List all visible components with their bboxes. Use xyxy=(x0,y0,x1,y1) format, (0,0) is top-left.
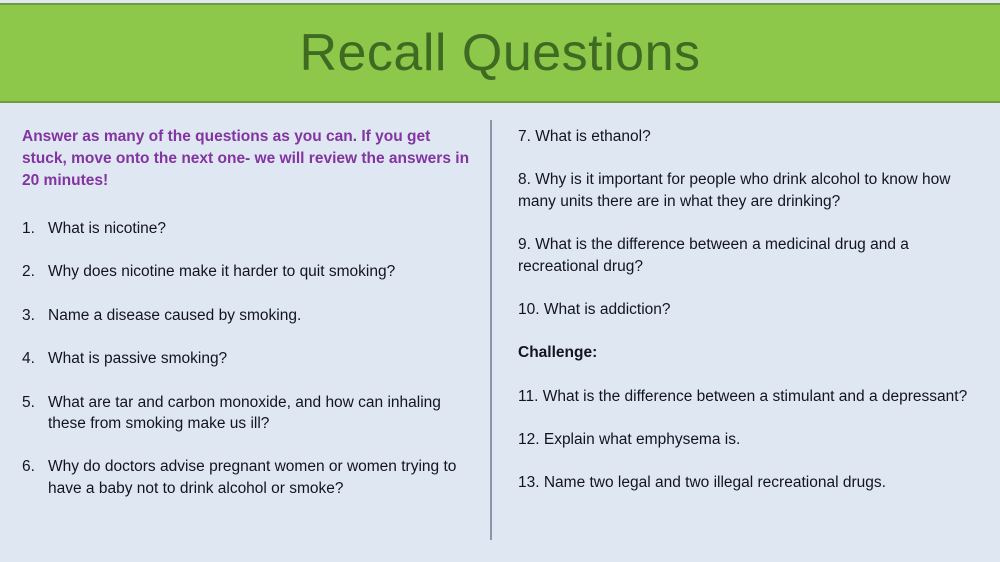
list-item: 7. What is ethanol? xyxy=(518,105,988,147)
list-item-number: 1. xyxy=(22,218,44,239)
slide-body: Answer as many of the questions as you c… xyxy=(0,105,1000,562)
list-item: 8. Why is it important for people who dr… xyxy=(518,169,988,212)
right-column: 7. What is ethanol?8. Why is it importan… xyxy=(518,105,988,516)
slide-root: Recall Questions Answer as many of the q… xyxy=(0,0,1000,562)
list-item-label: What is nicotine? xyxy=(48,220,166,237)
list-item-number: 3. xyxy=(22,305,44,326)
list-item: 6.Why do doctors advise pregnant women o… xyxy=(22,456,474,499)
list-item-label: What are tar and carbon monoxide, and ho… xyxy=(48,394,441,432)
list-item: 10. What is addiction? xyxy=(518,299,988,320)
list-item: 13. Name two legal and two illegal recre… xyxy=(518,472,988,493)
list-item: 2.Why does nicotine make it harder to qu… xyxy=(22,261,474,282)
section-heading: Challenge: xyxy=(518,342,988,363)
left-question-list: 1.What is nicotine?2.Why does nicotine m… xyxy=(22,218,474,499)
column-divider xyxy=(490,120,492,540)
list-item-label: Why do doctors advise pregnant women or … xyxy=(48,458,456,496)
list-item: 3.Name a disease caused by smoking. xyxy=(22,305,474,326)
list-item-label: Name a disease caused by smoking. xyxy=(48,307,301,324)
left-column: Answer as many of the questions as you c… xyxy=(22,105,474,499)
list-item-number: 6. xyxy=(22,456,44,477)
list-item: 1.What is nicotine? xyxy=(22,218,474,239)
list-item-number: 4. xyxy=(22,348,44,369)
list-item-number: 5. xyxy=(22,392,44,413)
list-item: 4.What is passive smoking? xyxy=(22,348,474,369)
list-item: 9. What is the difference between a medi… xyxy=(518,234,988,277)
list-item: 12. Explain what emphysema is. xyxy=(518,429,988,450)
title-band: Recall Questions xyxy=(0,3,1000,103)
list-item-label: What is passive smoking? xyxy=(48,350,227,367)
page-title: Recall Questions xyxy=(299,27,700,79)
list-item: 5.What are tar and carbon monoxide, and … xyxy=(22,392,474,435)
instructions-text: Answer as many of the questions as you c… xyxy=(22,105,474,192)
list-item: 11. What is the difference between a sti… xyxy=(518,386,988,407)
list-item-label: Why does nicotine make it harder to quit… xyxy=(48,263,395,280)
list-item-number: 2. xyxy=(22,261,44,282)
